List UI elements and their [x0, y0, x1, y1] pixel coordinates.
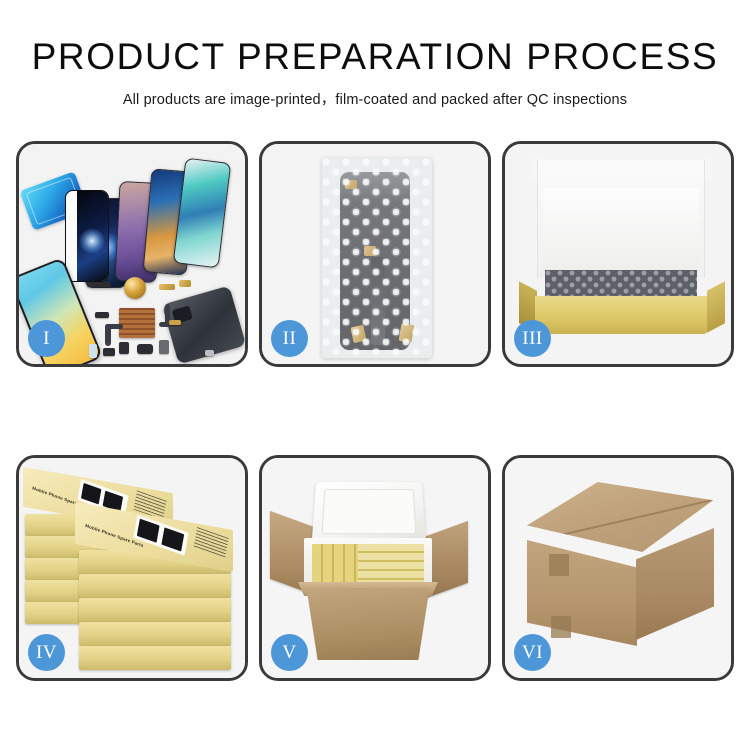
foam-liner	[543, 188, 699, 274]
process-steps-grid: I II	[16, 141, 734, 681]
step-panel-1: I	[16, 141, 248, 367]
spare-part-icon	[103, 348, 115, 356]
carton-left-panel	[527, 540, 637, 646]
spare-part-icon	[159, 340, 169, 354]
spare-part-icon	[159, 284, 175, 290]
spare-part-icon	[119, 342, 129, 354]
circuit-board-icon	[119, 308, 155, 338]
step-badge-3: III	[514, 320, 551, 357]
flex-cable-icon	[371, 257, 385, 345]
carton-front-panel	[298, 588, 438, 660]
step-badge-1: I	[28, 320, 65, 357]
header: PRODUCT PREPARATION PROCESS All products…	[0, 0, 750, 109]
flex-cable-icon	[105, 324, 123, 329]
spare-part-icon	[89, 344, 97, 358]
stacked-box	[79, 646, 231, 670]
product-preparation-infographic: PRODUCT PREPARATION PROCESS All products…	[0, 0, 750, 750]
connector-icon	[399, 323, 415, 343]
carton-seam	[561, 497, 723, 536]
step-panel-3: III	[502, 141, 734, 367]
step-badge-4: IV	[28, 634, 65, 671]
step-panel-5: V	[259, 455, 491, 681]
stacked-box	[79, 574, 231, 598]
connector-icon	[345, 180, 357, 189]
carton-tape-icon	[551, 616, 571, 638]
step-panel-6: VI	[502, 455, 734, 681]
wireless-coil-icon	[124, 277, 146, 299]
foam-box-lid	[312, 482, 427, 543]
inner-boxes-contents	[358, 544, 424, 584]
spare-part-icon	[169, 320, 181, 325]
spare-part-icon	[95, 312, 109, 318]
tempered-glass-icon	[65, 190, 109, 282]
screen-thumbnail-icon	[161, 527, 184, 551]
box-front-panel	[535, 296, 707, 334]
spare-part-icon	[87, 282, 111, 287]
step-badge-6: VI	[514, 634, 551, 671]
box-side-panel	[707, 281, 725, 333]
carton-tape-icon	[549, 554, 569, 576]
box-label-window	[133, 515, 188, 556]
page-title: PRODUCT PREPARATION PROCESS	[0, 38, 750, 77]
step-panel-2: II	[259, 141, 491, 367]
step-badge-2: II	[271, 320, 308, 357]
stacked-box	[79, 598, 231, 622]
wrapped-screen-icon	[340, 172, 410, 350]
spare-part-icon	[205, 350, 214, 356]
stacked-box	[79, 622, 231, 646]
page-subtitle: All products are image-printed，film-coat…	[0, 88, 750, 109]
spare-part-icon	[179, 280, 191, 287]
screen-thumbnail-icon	[81, 483, 102, 505]
step-badge-5: V	[271, 634, 308, 671]
bubble-wrapped-contents	[545, 270, 697, 298]
screen-thumbnail-icon	[137, 519, 160, 543]
box-spec-lines	[193, 527, 228, 559]
camera-module-icon	[137, 344, 153, 354]
connector-icon	[364, 246, 376, 256]
step-panel-4: Mobile Phone Spare Parts Mobile Phone Sp…	[16, 455, 248, 681]
bubble-wrap-bag	[322, 158, 432, 358]
